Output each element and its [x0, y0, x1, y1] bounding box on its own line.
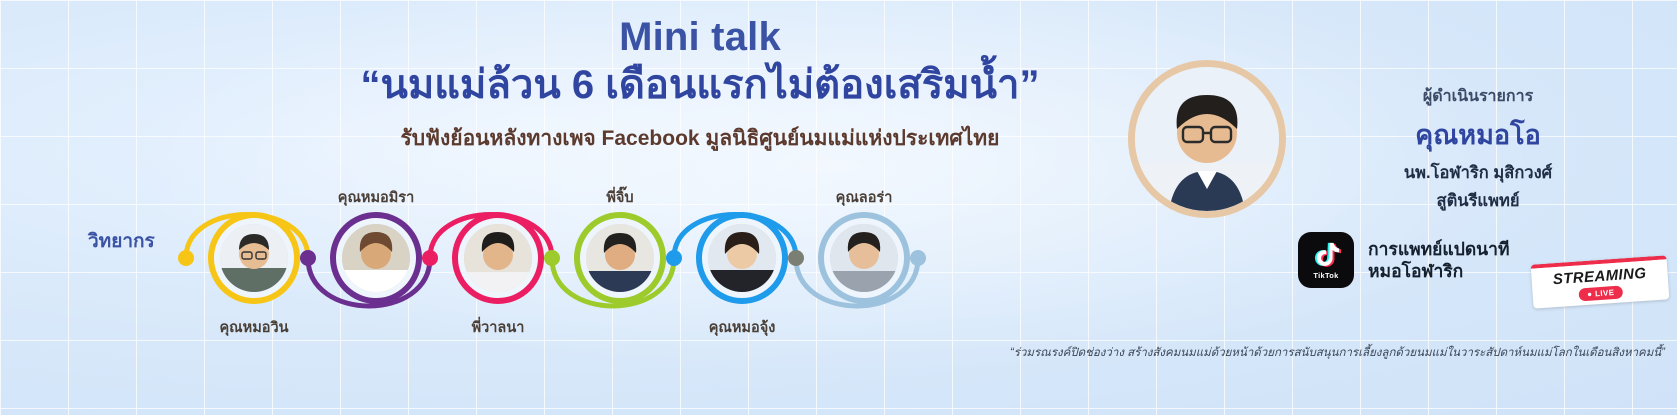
avatar-illustration	[830, 224, 898, 292]
speaker-timeline: วิทยากร	[0, 182, 1060, 342]
speaker-avatar-5	[708, 224, 776, 292]
speaker-avatar-3	[464, 224, 532, 292]
avatar-illustration	[464, 224, 532, 292]
speaker-name-4: พี่จิ๊บ	[552, 186, 688, 209]
streaming-badge: STREAMING ● LIVE	[1531, 255, 1670, 308]
host-info: ผู้ดำเนินรายการ คุณหมอโอ นพ.โอฬาริก มุสิ…	[1298, 84, 1658, 213]
live-badge: ● LIVE	[1579, 285, 1623, 301]
host-avatar	[1128, 60, 1286, 218]
avatar-illustration	[342, 224, 410, 292]
host-specialty: สูตินรีแพทย์	[1298, 190, 1658, 212]
speaker-name-6: คุณลอร่า	[796, 186, 932, 209]
social-row[interactable]: TikTok การแพทย์แปดนาที หมอโอฬาริก	[1298, 232, 1510, 288]
tiktok-icon[interactable]: TikTok	[1298, 232, 1354, 288]
speakers-label: วิทยากร	[88, 226, 155, 256]
host-panel: ผู้ดำเนินรายการ คุณหมอโอ นพ.โอฬาริก มุสิ…	[1128, 56, 1668, 356]
speaker-name-3: พี่วาลนา	[430, 316, 566, 339]
host-role: ผู้ดำเนินรายการ	[1298, 84, 1658, 109]
headline-quote: “นมแม่ล้วน 6 เดือนแรกไม่ต้องเสริมน้ำ”	[210, 62, 1190, 108]
channel-line-2: หมอโอฬาริก	[1368, 260, 1510, 282]
avatar-illustration	[586, 224, 654, 292]
footer-caption: “ร่วมรณรงค์ปิดช่องว่าง สร้างสังคมนมแม่ด้…	[845, 344, 1665, 362]
headline-block: Mini talk “นมแม่ล้วน 6 เดือนแรกไม่ต้องเส…	[210, 16, 1190, 155]
headline-subtitle: รับฟังย้อนหลังทางเพจ Facebook มูลนิธิศูน…	[210, 122, 1190, 155]
speaker-name-1: คุณหมอวิน	[186, 316, 322, 339]
speaker-name-2: คุณหมอมิรา	[308, 186, 444, 209]
speaker-avatar-4	[586, 224, 654, 292]
speaker-name-5: คุณหมอจุ้ง	[674, 316, 810, 339]
channel-name: การแพทย์แปดนาที หมอโอฬาริก	[1368, 238, 1510, 283]
speaker-avatar-6	[830, 224, 898, 292]
speaker-avatar-2	[342, 224, 410, 292]
headline-title: Mini talk	[210, 16, 1190, 58]
tiktok-note-glyph	[1311, 240, 1341, 270]
tiktok-wordmark: TikTok	[1313, 271, 1338, 280]
avatar-illustration	[708, 224, 776, 292]
host-avatar-illustration	[1135, 67, 1279, 211]
channel-line-1: การแพทย์แปดนาที	[1368, 238, 1510, 260]
event-banner: Mini talk “นมแม่ล้วน 6 เดือนแรกไม่ต้องเส…	[0, 0, 1677, 415]
host-nickname: คุณหมอโอ	[1298, 113, 1658, 156]
host-fullname: นพ.โอฬาริก มุสิกวงศ์	[1298, 162, 1658, 184]
streaming-label: STREAMING	[1552, 265, 1646, 286]
avatar-illustration	[220, 224, 288, 292]
speaker-avatar-1	[220, 224, 288, 292]
